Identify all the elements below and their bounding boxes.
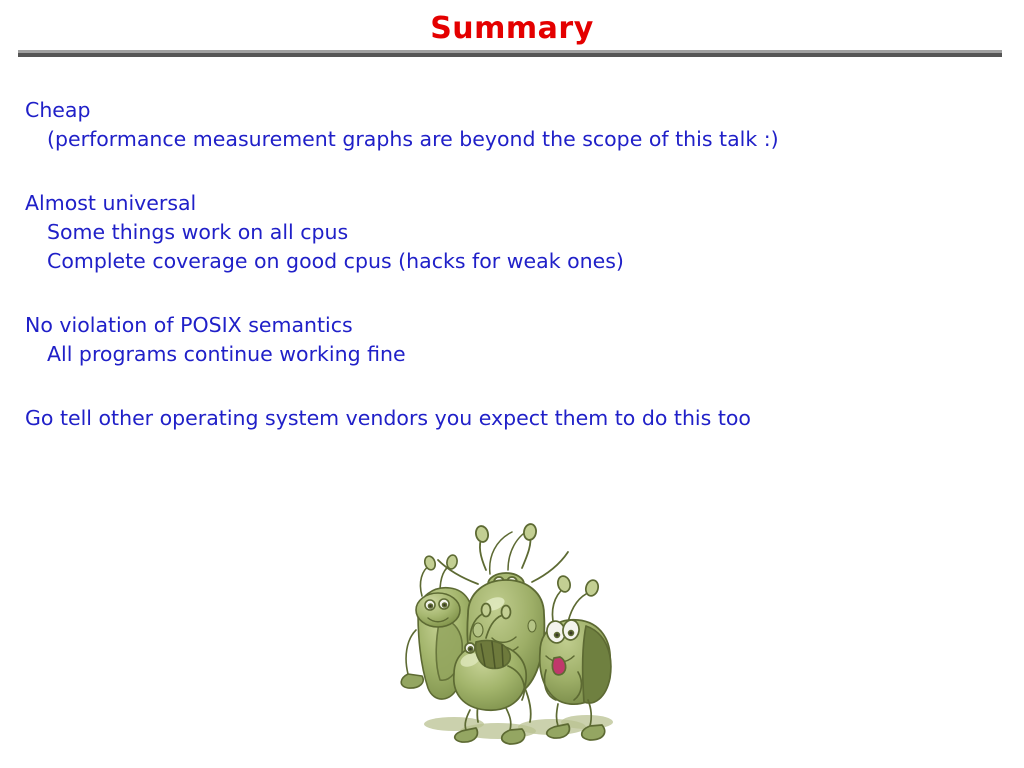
- bullet-block-posix: No violation of POSIX semantics All prog…: [0, 311, 1024, 369]
- bullet-line: All programs continue working fine: [0, 340, 1024, 369]
- divider-shadow: [18, 53, 1002, 57]
- block-spacer: [0, 154, 1024, 189]
- bug-right: [540, 575, 611, 740]
- presentation-slide: Summary Cheap (performance measurement g…: [0, 0, 1024, 768]
- page-title: Summary: [0, 12, 1024, 46]
- bullet-block-cheap: Cheap (performance measurement graphs ar…: [0, 96, 1024, 154]
- block-spacer: [0, 369, 1024, 404]
- bullet-block-call-to-action: Go tell other operating system vendors y…: [0, 404, 1024, 433]
- slide-body: Cheap (performance measurement graphs ar…: [0, 96, 1024, 433]
- title-divider: [18, 50, 1002, 57]
- bullet-line: (performance measurement graphs are beyo…: [0, 125, 1024, 154]
- bullet-line: No violation of POSIX semantics: [0, 311, 1024, 340]
- bullet-line: Complete coverage on good cpus (hacks fo…: [0, 247, 1024, 276]
- bullet-line: Cheap: [0, 96, 1024, 125]
- bullet-line: Go tell other operating system vendors y…: [0, 404, 1024, 433]
- bullet-line: Almost universal: [0, 189, 1024, 218]
- cartoon-bugs-icon: [382, 522, 634, 754]
- bullet-block-universal: Almost universal Some things work on all…: [0, 189, 1024, 276]
- bullet-line: Some things work on all cpus: [0, 218, 1024, 247]
- block-spacer: [0, 276, 1024, 311]
